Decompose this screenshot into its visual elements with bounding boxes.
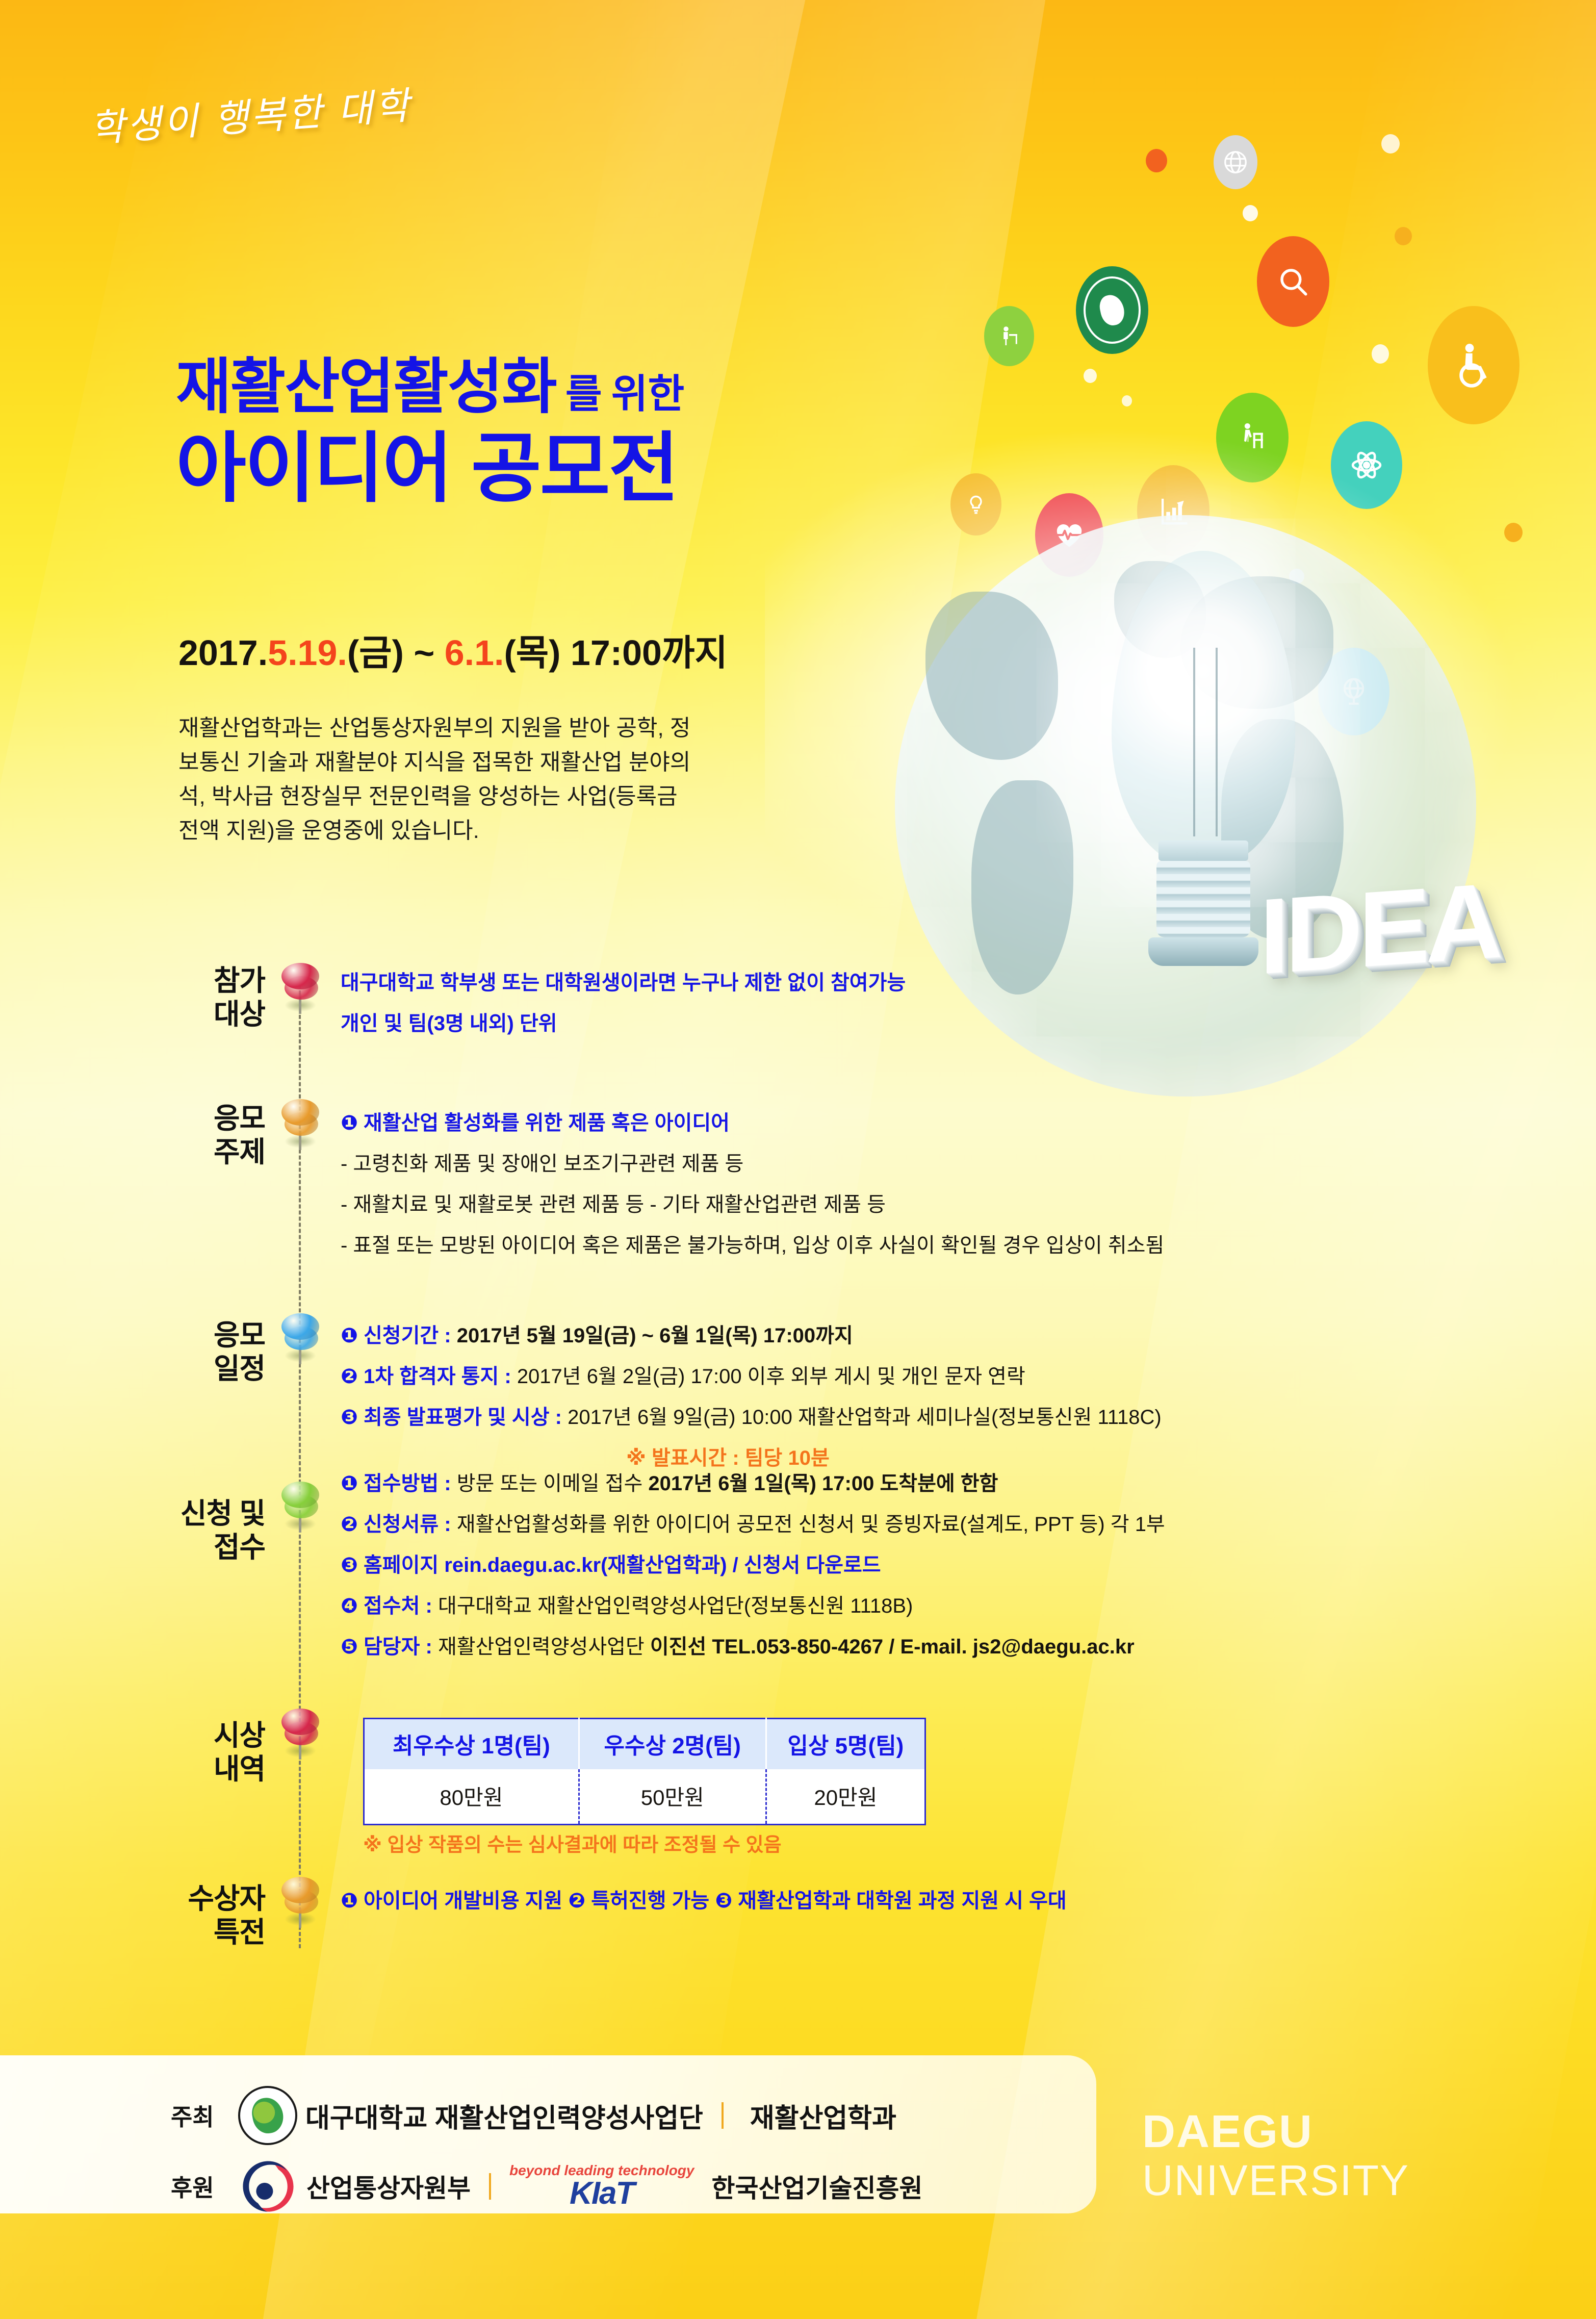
- title-line1-highlight: 재활산업활성화: [176, 353, 556, 421]
- deco-dot-orange-1: [1146, 149, 1167, 172]
- title-line1-tail: 위한: [611, 371, 685, 416]
- date-end: 6.1.: [445, 633, 504, 673]
- text-run: 이진선 TEL.053-850-4267 / E-mail. js2@daegu…: [650, 1636, 1135, 1658]
- date-tilde: ~: [404, 633, 445, 673]
- section-3-line-1: ❶ 신청기간 : 2017년 5월 19일(금) ~ 6월 1일(목) 17:0…: [341, 1322, 1162, 1349]
- footer-separator: [722, 2102, 724, 2129]
- section-4-line-2: ❷ 신청서류 : 재활산업활성화를 위한 아이디어 공모전 신청서 및 증빙자료…: [341, 1511, 1165, 1538]
- text-run: ❶ 아이디어 개발비용 지원 ❷ 특허진행 가능 ❸ 재활산업학과 대학원 과정…: [341, 1890, 1067, 1912]
- date-deadline-time: 17:00까지: [560, 633, 727, 673]
- deco-dot-white-5: [1122, 395, 1132, 406]
- section-1-line-1: 대구대학교 학부생 또는 대학원생이라면 누구나 제한 없이 참여가능: [341, 969, 906, 997]
- bulb-screw-base: [1156, 861, 1250, 937]
- prize-value-cell: 20만원: [766, 1769, 925, 1825]
- watermark-line-1: DAEGU: [1142, 2109, 1409, 2155]
- section-2-line-2: - 고령친화 제품 및 장애인 보조기구관련 제품 등: [341, 1150, 1164, 1178]
- footer-host-org: 대구대학교 재활산업인력양성사업단: [305, 2097, 703, 2135]
- section-4-line-5: ❺ 담당자 : 재활산업인력양성사업단 이진선 TEL.053-850-4267…: [341, 1633, 1165, 1661]
- footer-host-tag: 주최: [171, 2099, 238, 2132]
- footer-host-dept: 재활산업학과: [750, 2097, 896, 2135]
- text-run: 개인 및 팀(3명 내외) 단위: [341, 1012, 557, 1035]
- section-2-line-3: - 재활치료 및 재활로봇 관련 제품 등 - 기타 재활산업관련 제품 등: [341, 1191, 1164, 1218]
- text-run: ❸ 홈페이지 rein.daegu.ac.kr(재활산업학과) / 신청서 다운…: [341, 1554, 881, 1576]
- footer-separator-2: [489, 2173, 491, 2200]
- text-run: ❶ 접수방법 :: [341, 1472, 457, 1495]
- atom-icon: [1331, 421, 1402, 509]
- text-run: ❺ 담당자 :: [341, 1636, 438, 1658]
- prize-header-cell: 우수상 2명(팀): [579, 1719, 766, 1770]
- bulb-filament: [1193, 648, 1218, 836]
- section-pin-icon-5: [281, 1709, 319, 1760]
- deco-dot-white-2: [1381, 134, 1400, 154]
- section-3-line-3: ❸ 최종 발표평가 및 시상 : 2017년 6월 9일(금) 10:00 재활…: [341, 1404, 1162, 1431]
- prize-table-note: ※ 입상 작품의 수는 심사결과에 따라 조정될 수 있음: [363, 1829, 782, 1857]
- prize-table: 최우수상 1명(팀) 우수상 2명(팀) 입상 5명(팀) 80만원 50만원 …: [363, 1718, 926, 1825]
- section-pin-icon-3: [281, 1313, 319, 1364]
- prize-table-header-row: 최우수상 1명(팀) 우수상 2명(팀) 입상 5명(팀): [364, 1719, 925, 1770]
- deco-dot-white-4: [1084, 369, 1097, 383]
- deco-dot-orange-3: [1504, 523, 1523, 542]
- section-body-6: ❶ 아이디어 개발비용 지원 ❷ 특허진행 가능 ❸ 재활산업학과 대학원 과정…: [341, 1887, 1067, 1928]
- text-run: - 표절 또는 모방된 아이디어 혹은 제품은 불가능하며, 입상 이후 사실이…: [341, 1234, 1164, 1257]
- section-pin-icon-2: [281, 1099, 319, 1150]
- footer-kiat-name: 한국산업기술진흥원: [711, 2168, 922, 2205]
- text-run: 2017년 6월 1일(목) 17:00 도착분에 한함: [648, 1472, 998, 1495]
- text-run: ❷ 1차 합격자 통지 :: [341, 1365, 517, 1388]
- motie-taegeuk-logo-icon: [238, 2156, 298, 2216]
- section-4-line-4: ❹ 접수처 : 대구대학교 재활산업인력양성사업단(정보통신원 1118B): [341, 1592, 1165, 1620]
- date-end-weekday: (목): [504, 633, 560, 673]
- bulb-contact-base: [1148, 937, 1258, 966]
- title-line1-particle: 를: [565, 371, 602, 416]
- section-body-3: ❶ 신청기간 : 2017년 5월 19일(금) ~ 6월 1일(목) 17:0…: [341, 1322, 1162, 1485]
- section-pin-icon-1: [281, 963, 319, 1014]
- daegu-university-watermark: DAEGU UNIVERSITY: [1142, 2109, 1409, 2202]
- daegu-university-logo-icon: [238, 2086, 297, 2145]
- section-4-line-1: ❶ 접수방법 : 방문 또는 이메일 접수 2017년 6월 1일(목) 17:…: [341, 1470, 1165, 1497]
- section-label-2: 응모주제: [97, 1102, 265, 1169]
- application-period-line: 2017.5.19.(금) ~ 6.1.(목) 17:00까지: [178, 635, 728, 671]
- text-run: 2017년 6월 2일(금) 17:00 이후 외부 게시 및 개인 문자 연락: [517, 1365, 1025, 1388]
- wheelchair-icon: [1428, 306, 1520, 424]
- text-run: ❶ 재활산업 활성화를 위한 제품 혹은 아이디어: [341, 1112, 730, 1134]
- text-run: 재활산업활성화를 위한 아이디어 공모전 신청서 및 증빙자료(설계도, PPT…: [457, 1513, 1165, 1536]
- student-desk-icon: [984, 306, 1034, 366]
- section-2-line-1: ❶ 재활산업 활성화를 위한 제품 혹은 아이디어: [341, 1109, 1164, 1137]
- section-label-6: 수상자특전: [97, 1882, 265, 1949]
- deco-dot-white-3: [1372, 344, 1389, 364]
- text-run: 2017년 6월 9일(금) 10:00 재활산업학과 세미나실(정보통신원 1…: [568, 1406, 1162, 1429]
- text-run: ❸ 최종 발표평가 및 시상 :: [341, 1406, 568, 1429]
- date-start: 5.19.: [268, 633, 347, 673]
- section-label-5: 시상내역: [97, 1719, 265, 1786]
- lightbulb-icon: [950, 473, 1001, 536]
- section-pin-icon-6: [281, 1877, 319, 1928]
- section-pin-icon-4: [281, 1482, 319, 1533]
- date-year: 2017.: [178, 633, 268, 673]
- watermark-line-2: UNIVERSITY: [1142, 2159, 1409, 2202]
- section-body-1: 대구대학교 학부생 또는 대학원생이라면 누구나 제한 없이 참여가능개인 및 …: [341, 969, 906, 1051]
- section-label-4: 신청 및접수: [97, 1497, 265, 1564]
- kiat-wordmark: KIaT: [570, 2178, 634, 2209]
- prize-header-cell: 입상 5명(팀): [766, 1719, 925, 1770]
- text-run: 재활산업인력양성사업단: [438, 1636, 650, 1658]
- section-body-2: ❶ 재활산업 활성화를 위한 제품 혹은 아이디어- 고령친화 제품 및 장애인…: [341, 1109, 1164, 1272]
- footer-sponsor-row: 후원 산업통상자원부 beyond leading technology KIa…: [171, 2156, 922, 2216]
- text-run: 방문 또는 이메일 접수: [457, 1472, 649, 1495]
- magnifier-icon: [1257, 236, 1329, 327]
- kiat-logo-icon: beyond leading technology KIaT: [509, 2163, 694, 2209]
- text-run: 2017년 5월 19일(금) ~ 6월 1일(목) 17:00까지: [457, 1324, 853, 1347]
- section-1-line-2: 개인 및 팀(3명 내외) 단위: [341, 1010, 906, 1037]
- section-body-4: ❶ 접수방법 : 방문 또는 이메일 접수 2017년 6월 1일(목) 17:…: [341, 1470, 1165, 1674]
- footer-host-row: 주최 대구대학교 재활산업인력양성사업단 재활산업학과: [171, 2086, 896, 2145]
- section-3-line-2: ❷ 1차 합격자 통지 : 2017년 6월 2일(금) 17:00 이후 외부…: [341, 1363, 1162, 1390]
- idea-3d-text: IDEA: [1259, 859, 1499, 999]
- section-6-line-1: ❶ 아이디어 개발비용 지원 ❷ 특허진행 가능 ❸ 재활산업학과 대학원 과정…: [341, 1887, 1067, 1915]
- prize-header-cell: 최우수상 1명(팀): [364, 1719, 579, 1770]
- prize-value-cell: 50만원: [579, 1769, 766, 1825]
- bulb-neck: [1159, 840, 1248, 861]
- text-run: - 고령친화 제품 및 장애인 보조기구관련 제품 등: [341, 1153, 743, 1175]
- text-run: 대구대학교 재활산업인력양성사업단(정보통신원 1118B): [438, 1595, 913, 1617]
- program-description: 재활산업학과는 산업통상자원부의 지원을 받아 공학, 정보통신 기술과 재활분…: [178, 711, 693, 848]
- elderly-walker-icon: [1216, 393, 1289, 482]
- text-run: ❹ 접수처 :: [341, 1595, 438, 1617]
- date-start-weekday: (금): [347, 633, 404, 673]
- text-run: ❷ 신청서류 :: [341, 1513, 457, 1536]
- section-2-line-4: - 표절 또는 모방된 아이디어 혹은 제품은 불가능하며, 입상 이후 사실이…: [341, 1232, 1164, 1259]
- footer-sponsor-ministry: 산업통상자원부: [306, 2168, 471, 2205]
- daegu-university-emblem-icon: [1076, 266, 1148, 354]
- title-line2: 아이디어 공모전: [176, 425, 678, 511]
- text-run: ❶ 신청기간 :: [341, 1324, 457, 1347]
- section-3-line-4: ※ 발표시간 : 팀당 10분: [626, 1444, 1162, 1472]
- prize-value-cell: 80만원: [364, 1769, 579, 1825]
- section-label-3: 응모일정: [97, 1318, 265, 1386]
- text-run: 대구대학교 학부생 또는 대학원생이라면 누구나 제한 없이 참여가능: [341, 972, 906, 994]
- poster-title-block: 재활산업활성화를위한 아이디어 공모전: [176, 357, 941, 509]
- deco-dot-white-1: [1243, 205, 1258, 221]
- section-label-1: 참가대상: [97, 964, 265, 1031]
- section-4-line-3: ❸ 홈페이지 rein.daegu.ac.kr(재활산업학과) / 신청서 다운…: [341, 1551, 1165, 1579]
- text-run: ※ 발표시간 : 팀당 10분: [626, 1447, 830, 1469]
- prize-table-value-row: 80만원 50만원 20만원: [364, 1769, 925, 1825]
- deco-dot-orange-2: [1395, 227, 1412, 245]
- globe-grid-icon: [1214, 135, 1257, 189]
- text-run: - 재활치료 및 재활로봇 관련 제품 등 - 기타 재활산업관련 제품 등: [341, 1193, 886, 1216]
- university-slogan: 학생이 행복한 대학: [88, 75, 413, 153]
- footer-sponsor-tag: 후원: [171, 2170, 238, 2203]
- poster-canvas: 학생이 행복한 대학: [0, 0, 1596, 2319]
